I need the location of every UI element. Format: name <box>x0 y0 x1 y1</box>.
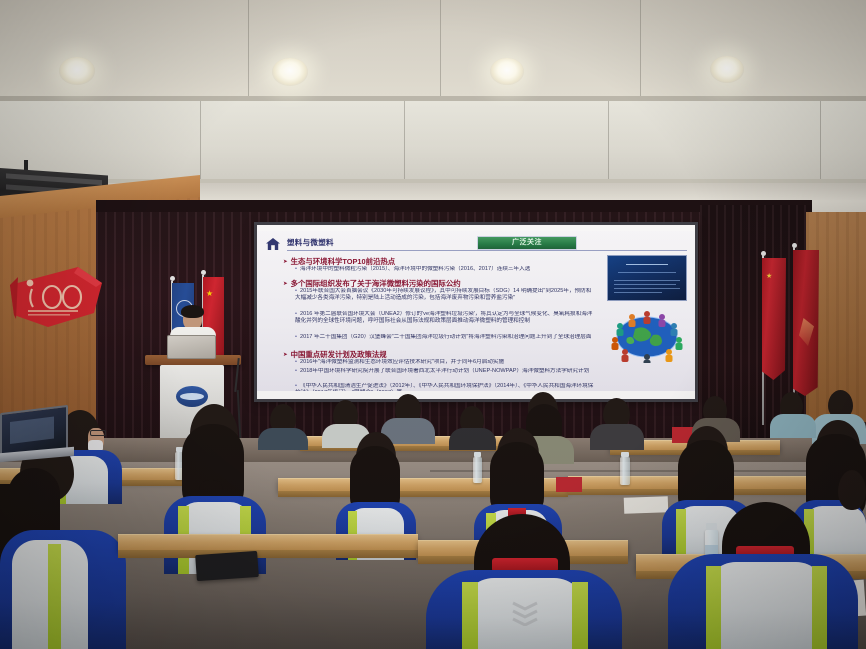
slide-bullet: 2018年中国环境科学研究院开展了联合国环境署西北太平洋行动计划（UNEP-NO… <box>295 368 595 375</box>
slide-bullet: 2017 年二十国集团（G20）汉堡峰会"二十国集团海洋垃圾行动计划"将海洋塑料… <box>295 334 595 341</box>
slide-header-title: 塑料与微塑料 <box>287 237 334 248</box>
downlight-icon <box>59 57 95 85</box>
globe-with-people-graphic <box>607 305 687 363</box>
slide-header: 塑料与微塑料 广泛关注 <box>265 237 687 253</box>
flag-star-icon: ★ <box>206 290 214 298</box>
cpc-centenary-emblem <box>8 255 104 341</box>
speaker-hair <box>181 305 204 318</box>
audience-body <box>770 414 816 438</box>
water-bottle[interactable] <box>620 457 630 485</box>
slide-bullet: 海洋环境中的塑料微粒污染（2015）、海洋环境中的微塑料污染（2016、2017… <box>295 266 530 273</box>
desk-row-front-left <box>118 534 418 551</box>
paper-sheet <box>624 496 669 514</box>
tablet-device[interactable] <box>195 551 259 581</box>
downlight-icon <box>272 58 308 86</box>
water-bottle[interactable] <box>473 457 482 483</box>
audience-body <box>449 428 496 450</box>
slide-bullet: 2016 年第二届联合国环境大会（UNEA2）修订的've海洋塑料垃圾污染'，将… <box>295 311 595 325</box>
uniform-stripe <box>48 544 61 649</box>
audience-body <box>590 424 644 450</box>
slide-bullet: 《中华人民共和国清洁生产促进法》（2012年）、《中华人民共和国环境保护法》（2… <box>295 383 595 391</box>
slide-bullet: 2016年"海洋微塑料监测和生态环境效应评估技术研究"项目，并于同年6月启动实施 <box>295 359 595 366</box>
slide-header-rule <box>287 250 687 251</box>
home-icon <box>265 237 281 251</box>
status-badge: 广泛关注 <box>477 236 577 250</box>
presentation-slide: 塑料与微塑料 广泛关注 生态与环境科学TOP10前沿热点 海洋环境中的塑料微粒污… <box>257 231 695 391</box>
ceiling-seam <box>608 101 609 179</box>
ceiling-seam <box>404 101 405 179</box>
ceiling-seam <box>200 101 201 179</box>
student-head <box>838 470 866 510</box>
presenter-laptop[interactable] <box>167 335 216 359</box>
uniform-stripe <box>462 582 478 649</box>
lecture-hall-photo: ★ ★ 塑料与微塑料 广泛关注 生态与环境科学TOP10前沿热点 海洋环境中的塑… <box>0 0 866 649</box>
downlight-icon <box>490 58 524 85</box>
ceiling-seam <box>820 101 821 179</box>
audience-body <box>258 428 308 450</box>
podium-crest-inner <box>180 393 204 400</box>
ceiling-seam <box>248 0 249 100</box>
desk-edge <box>118 550 418 558</box>
flag-star-icon: ★ <box>766 272 772 280</box>
uniform-stripe <box>812 566 827 649</box>
glasses-icon <box>90 430 106 436</box>
student-uniform-front <box>706 562 826 649</box>
uniform-chevron-logo <box>510 600 540 626</box>
uniform-stripe <box>706 566 721 649</box>
ceiling-seam <box>640 0 641 100</box>
uniform-stripe <box>676 509 686 560</box>
red-card <box>556 477 582 492</box>
downlight-icon <box>710 56 744 83</box>
ceiling-mid-panels <box>0 101 866 181</box>
bottle-cap <box>706 523 717 530</box>
mini-title-slide-thumbnail <box>607 255 687 301</box>
slide-bullet: 2015年联合国大会首脑会议《2030年可持续发展议程》，其中可持续发展目标（S… <box>295 288 595 302</box>
bottle-cap <box>621 452 629 457</box>
bottle-cap <box>474 452 481 457</box>
ceiling-seam <box>440 0 441 100</box>
uniform-stripe <box>572 582 588 649</box>
ceiling-upper-panels <box>0 0 866 100</box>
